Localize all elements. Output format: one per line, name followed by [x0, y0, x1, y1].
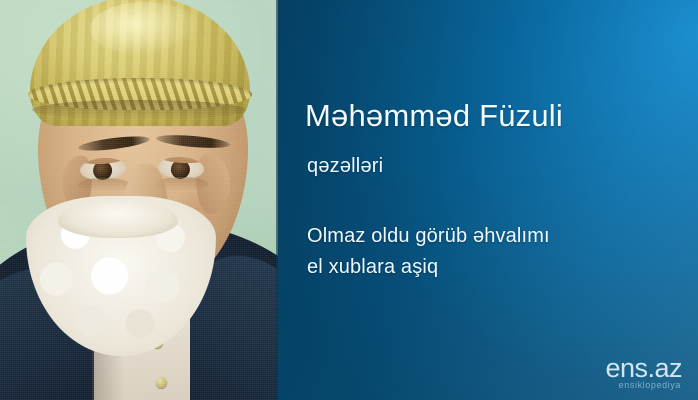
page-title: Məhəmməd Füzuli [305, 98, 563, 134]
poem-text: Olmaz oldu görüb əhvalımı el xublara aşi… [307, 221, 679, 283]
undereye-left [78, 178, 130, 192]
cap-shadow [32, 100, 246, 120]
mustache [58, 198, 178, 238]
eyebrow-left [78, 134, 151, 154]
robe-button [156, 377, 167, 388]
quote-card: Məhəmməd Füzuli qəzəlləri Olmaz oldu gör… [0, 0, 698, 400]
page-subtitle: qəzəlləri [307, 155, 383, 178]
cap-highlight [90, 2, 200, 56]
logo-wordmark: ens.az [552, 356, 682, 381]
text-content: Məhəmməd Füzuli qəzəlləri Olmaz oldu gör… [305, 0, 685, 400]
eyebrow-right [156, 133, 231, 150]
portrait-image [0, 0, 278, 400]
ens-az-logo[interactable]: ens.az ensiklopediya [552, 356, 682, 390]
text-panel: Məhəmməd Füzuli qəzəlləri Olmaz oldu gör… [278, 0, 698, 400]
poem-line: el xublara aşiq [307, 252, 679, 283]
poem-line: Olmaz oldu görüb əhvalımı [307, 221, 679, 252]
